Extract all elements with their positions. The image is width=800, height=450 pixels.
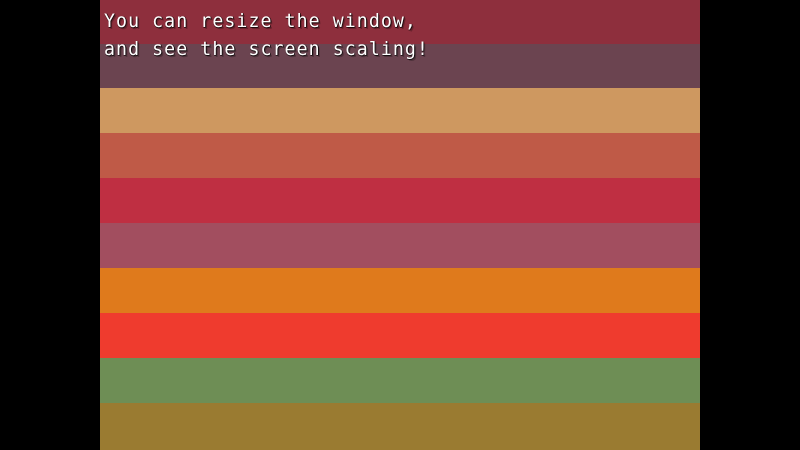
letterbox-bar-left [0,0,100,450]
band-plum [100,44,700,88]
band-terracotta [100,133,700,178]
scaled-viewport[interactable]: You can resize the window, and see the s… [100,0,700,450]
letterbox-bar-right [700,0,800,450]
band-rose [100,223,700,268]
band-red-orange [100,313,700,358]
app-window: You can resize the window, and see the s… [0,0,800,450]
band-green [100,358,700,403]
band-olive [100,403,700,450]
band-orange [100,268,700,313]
band-dark-red [100,0,700,44]
band-tan [100,88,700,133]
color-band-stack [100,0,700,450]
band-crimson [100,178,700,223]
